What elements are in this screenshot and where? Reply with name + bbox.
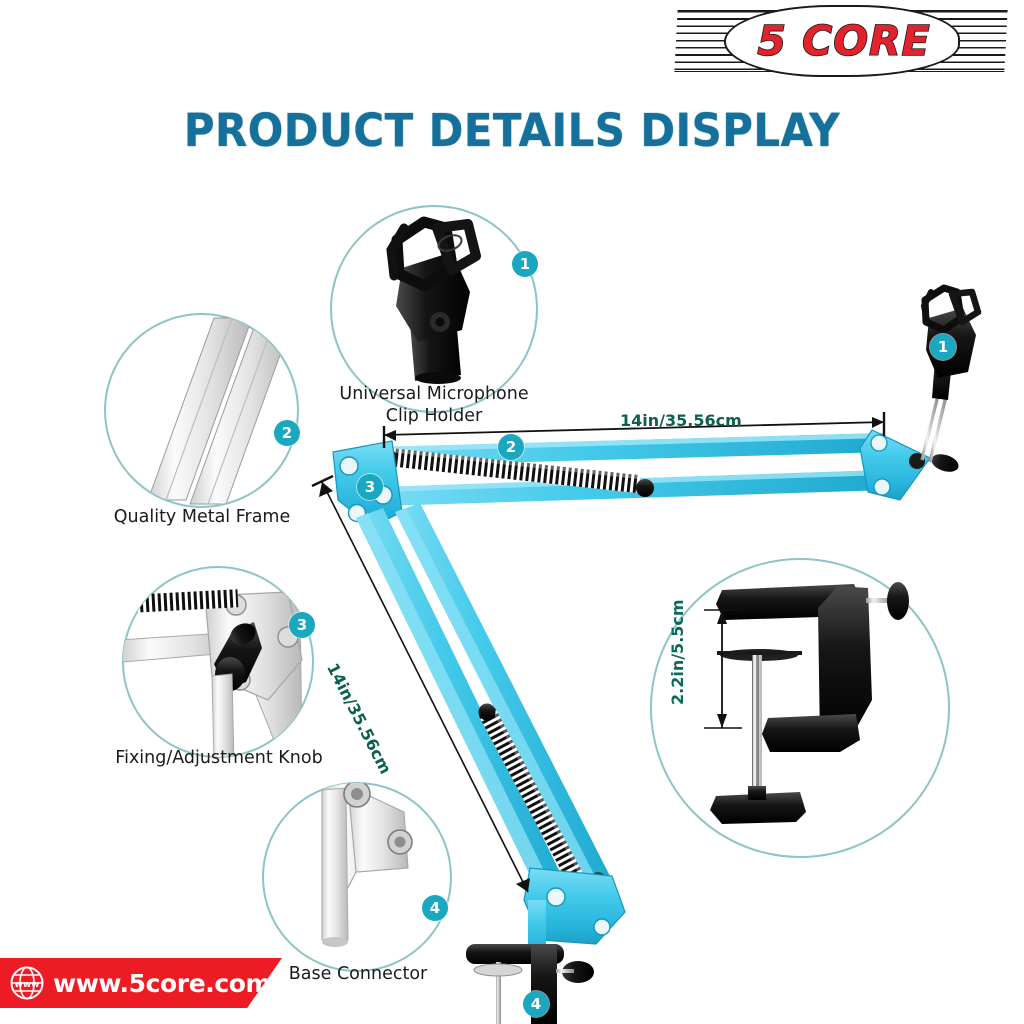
callout-circle-4 [262, 782, 452, 972]
clamp-detail-circle [650, 558, 950, 858]
product-detail-infographic: 5 CORE PRODUCT DETAILS DISPLAY [0, 0, 1024, 1024]
callout-badge-4: 4 [422, 895, 448, 921]
callout-label-2: Quality Metal Frame [92, 506, 312, 528]
callout-badge-1: 1 [512, 251, 538, 277]
callout-label-1: Universal Microphone Clip Holder [314, 383, 554, 428]
callout-circle-1 [330, 205, 538, 413]
base-plate [524, 868, 625, 960]
mic-clip-on-arm [922, 288, 978, 462]
page-title: PRODUCT DETAILS DISPLAY [36, 104, 988, 157]
callout-badge-3: 3 [289, 612, 315, 638]
product-badge-4: 4 [523, 991, 549, 1017]
product-badge-3: 3 [357, 474, 383, 500]
brand-logo: 5 CORE [676, 10, 1006, 72]
product-badge-1: 1 [930, 334, 956, 360]
callout-label-3: Fixing/Adjustment Knob [94, 747, 344, 769]
website-url: www.5core.com [53, 969, 271, 998]
lower-arm-spring [479, 704, 607, 889]
logo-text: 5 CORE [738, 14, 950, 68]
callout-badge-2: 2 [274, 420, 300, 446]
globe-www-icon: www [10, 966, 44, 1000]
callout-circle-2 [104, 313, 299, 508]
dimension-label-upper-arm: 14in/35.56cm [620, 411, 742, 430]
upper-arm-end-plate [860, 430, 961, 500]
website-banner[interactable]: www www.5core.com [0, 958, 282, 1008]
svg-text:www: www [15, 980, 40, 990]
product-badge-2: 2 [498, 434, 524, 460]
clamp-measurement-label: 2.2in/5.5cm [668, 599, 687, 705]
callout-label-4: Base Connector [258, 963, 458, 985]
upper-arm [378, 433, 889, 506]
callout-circle-3 [122, 566, 314, 758]
